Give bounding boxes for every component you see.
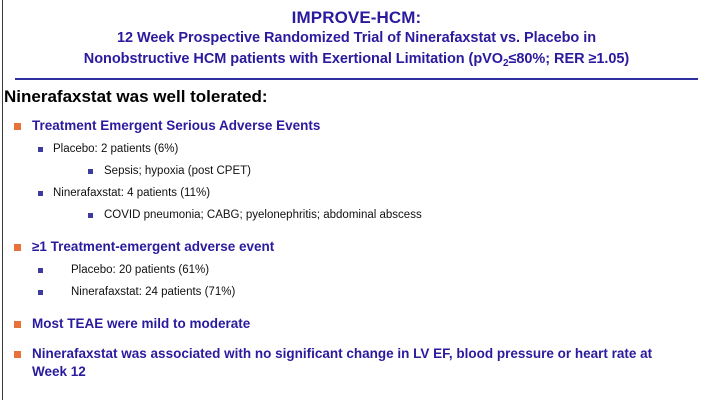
title-block: IMPROVE-HCM: 12 Week Prospective Randomi… xyxy=(0,0,713,70)
bullet-label: Placebo: 2 patients (6%) xyxy=(53,142,178,157)
bullet-label: Sepsis; hypoxia (post CPET) xyxy=(104,164,251,179)
bullet-item-level1: Most TEAE were mild to moderate xyxy=(0,315,713,333)
bullet-item-level2: Ninerafaxstat: 24 patients (71%) xyxy=(0,285,713,300)
bullet-item-level1: Treatment Emergent Serious Adverse Event… xyxy=(0,117,713,135)
square-bullet-icon xyxy=(38,191,43,196)
subtitle-subscript: 2 xyxy=(503,58,509,69)
square-bullet-icon xyxy=(14,351,21,358)
bullet-item-level2: Ninerafaxstat: 4 patients (11%) xyxy=(0,186,713,201)
subtitle-line-2-part1: Nonobstructive HCM patients with Exertio… xyxy=(84,51,503,67)
square-bullet-icon xyxy=(38,268,43,273)
subtitle-line-1: 12 Week Prospective Randomized Trial of … xyxy=(0,28,713,49)
bullet-item-level1: ≥1 Treatment-emergent adverse event xyxy=(0,238,713,256)
bullet-label: ≥1 Treatment-emergent adverse event xyxy=(32,238,274,256)
subtitle-line-2: Nonobstructive HCM patients with Exertio… xyxy=(0,49,713,71)
square-bullet-icon xyxy=(38,290,43,295)
bullet-item-level3: COVID pneumonia; CABG; pyelonephritis; a… xyxy=(0,208,713,223)
title-divider xyxy=(15,78,698,80)
square-bullet-icon xyxy=(88,169,93,174)
subtitle-line-2-part2: ≤80%; RER ≥1.05) xyxy=(509,51,630,67)
bullet-label: Ninerafaxstat: 4 patients (11%) xyxy=(53,186,210,201)
bullet-item-level2: Placebo: 20 patients (61%) xyxy=(0,263,713,278)
page-title: IMPROVE-HCM: xyxy=(0,7,713,28)
slide-body: Ninerafaxstat was well tolerated: Treatm… xyxy=(0,86,713,381)
square-bullet-icon xyxy=(14,244,21,251)
slide: IMPROVE-HCM: 12 Week Prospective Randomi… xyxy=(0,0,713,400)
bullet-label: Ninerafaxstat: 24 patients (71%) xyxy=(71,285,235,300)
square-bullet-icon xyxy=(38,147,43,152)
bullet-item-level3: Sepsis; hypoxia (post CPET) xyxy=(0,164,713,179)
body-heading: Ninerafaxstat was well tolerated: xyxy=(4,86,713,108)
square-bullet-icon xyxy=(14,321,21,328)
bullet-label: Treatment Emergent Serious Adverse Event… xyxy=(32,117,320,135)
square-bullet-icon xyxy=(88,213,93,218)
bullet-label: Most TEAE were mild to moderate xyxy=(32,315,250,333)
bullet-item-level2: Placebo: 2 patients (6%) xyxy=(0,142,713,157)
bullet-item-level1: Ninerafaxstat was associated with no sig… xyxy=(0,345,713,381)
square-bullet-icon xyxy=(14,123,21,130)
bullet-label: Placebo: 20 patients (61%) xyxy=(71,263,209,278)
bullet-label: Ninerafaxstat was associated with no sig… xyxy=(32,345,672,381)
bullet-label: COVID pneumonia; CABG; pyelonephritis; a… xyxy=(104,208,422,223)
